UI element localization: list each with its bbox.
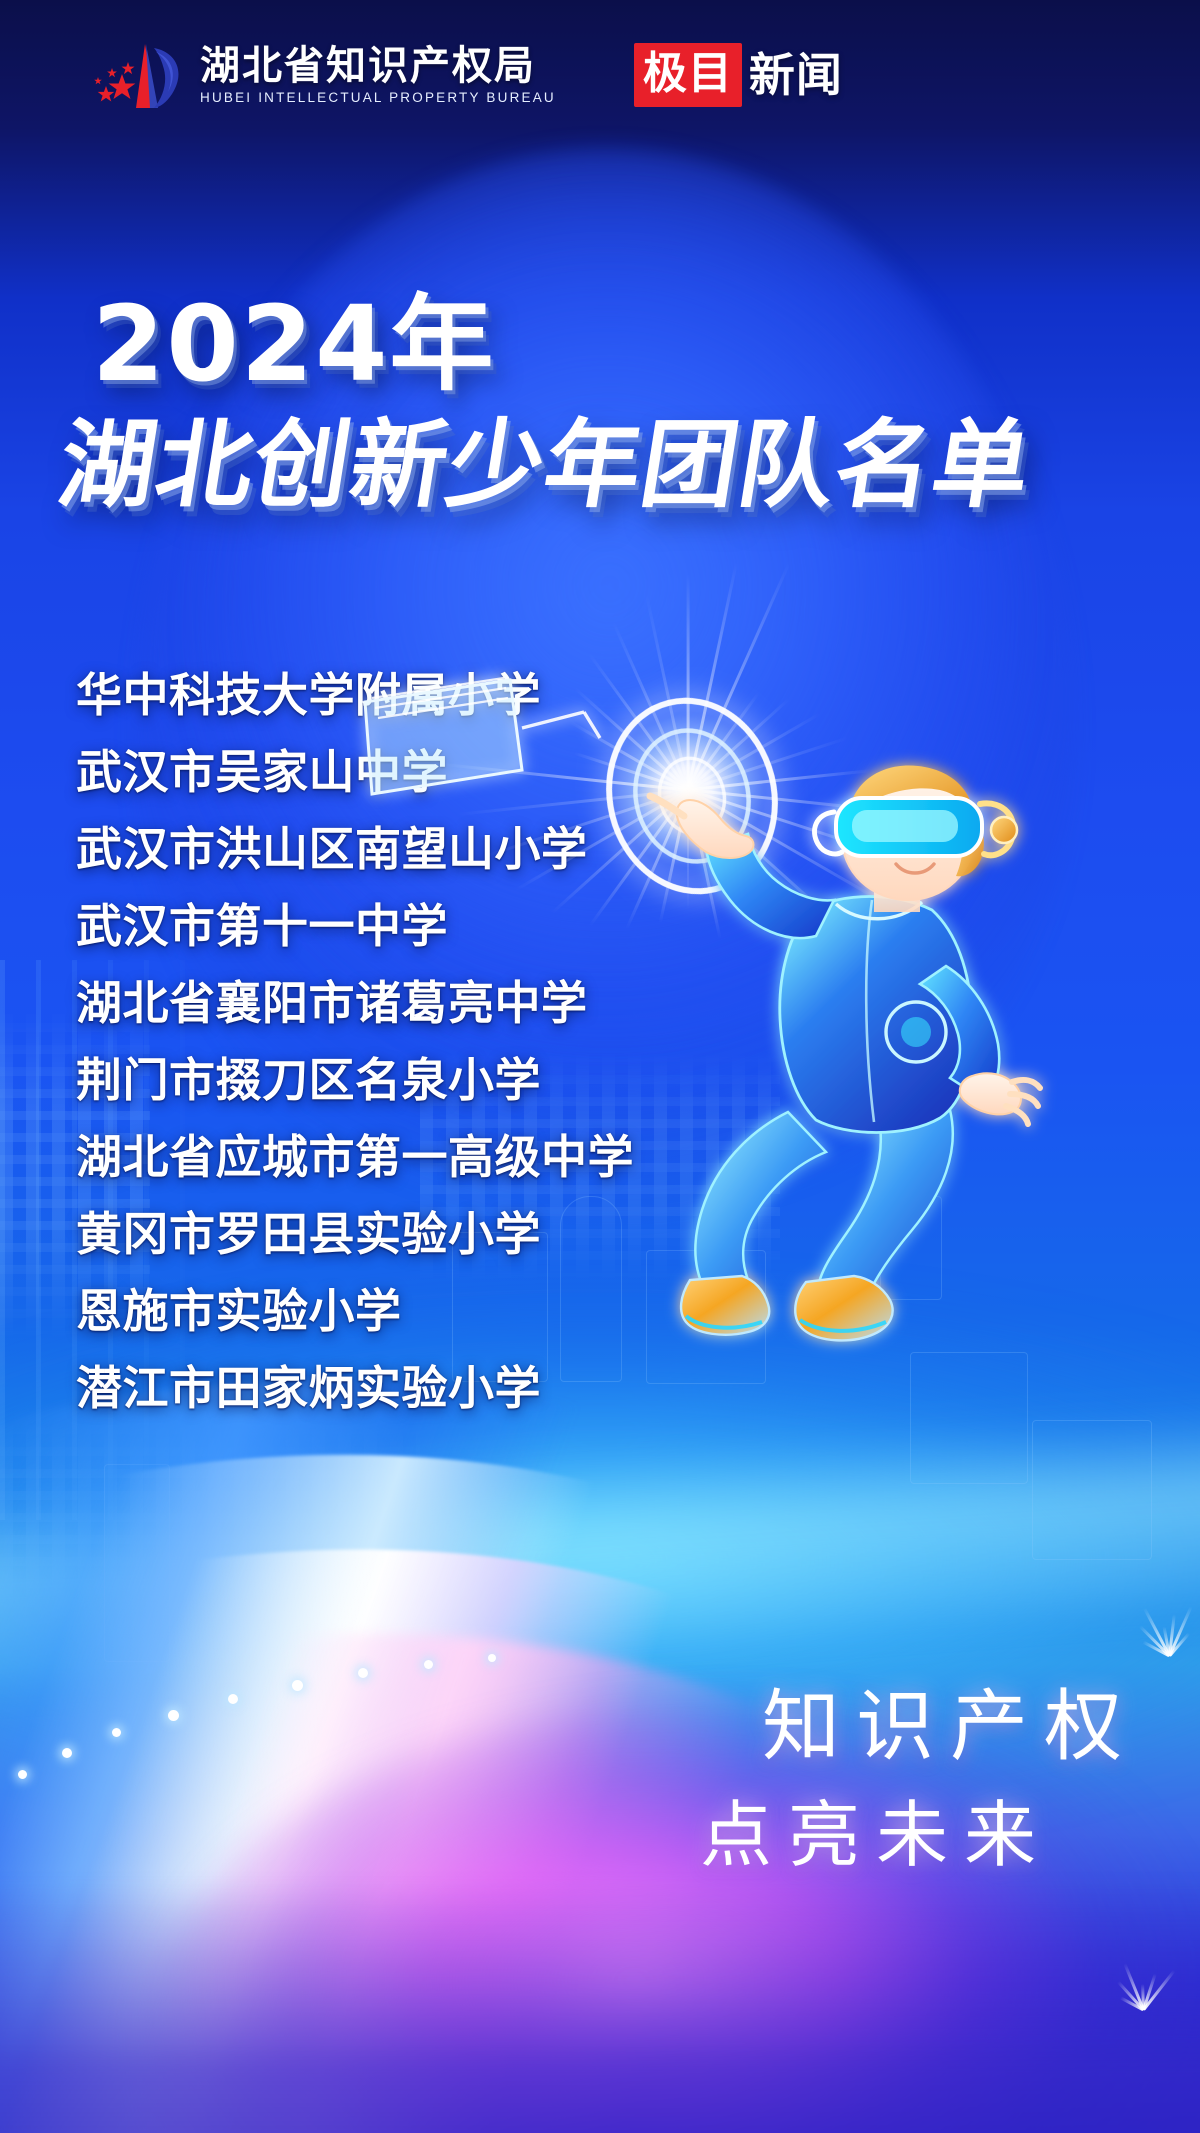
news-logo-plain-text: 新闻 [749, 52, 843, 98]
poster-slogan: 知识产权 点亮未来 [700, 1688, 1142, 1872]
gov-logo-text: 湖北省知识产权局 HUBEI INTELLECTUAL PROPERTY BUR… [200, 46, 556, 105]
gov-name-cn: 湖北省知识产权局 [200, 46, 556, 86]
title-main: 湖北创新少年团队名单 [52, 418, 1200, 514]
jimu-news-logo: 极目 新闻 [634, 43, 843, 107]
figure-body [650, 765, 1040, 1340]
title-year: 2024年 [92, 292, 1200, 396]
poster-header: 湖北省知识产权局 HUBEI INTELLECTUAL PROPERTY BUR… [0, 0, 1200, 150]
vr-headset-boy-3d-figure [620, 760, 1090, 1380]
slogan-line-2: 点亮未来 [700, 1800, 1056, 1872]
hubei-ip-bureau-logo: 湖北省知识产权局 HUBEI INTELLECTUAL PROPERTY BUR… [92, 38, 556, 112]
slogan-line-1: 知识产权 [700, 1688, 1142, 1766]
vr-headset [815, 798, 1017, 856]
poster-title-block: 2024年 湖北创新少年团队名单 [0, 292, 1200, 514]
news-logo-boxed-text: 极目 [634, 43, 742, 107]
hubei-ipb-sail-stars-emblem [92, 38, 184, 112]
gov-name-en: HUBEI INTELLECTUAL PROPERTY BUREAU [200, 91, 556, 105]
poster-root: 湖北省知识产权局 HUBEI INTELLECTUAL PROPERTY BUR… [0, 0, 1200, 2133]
violet-base-shade [0, 1880, 1200, 2133]
